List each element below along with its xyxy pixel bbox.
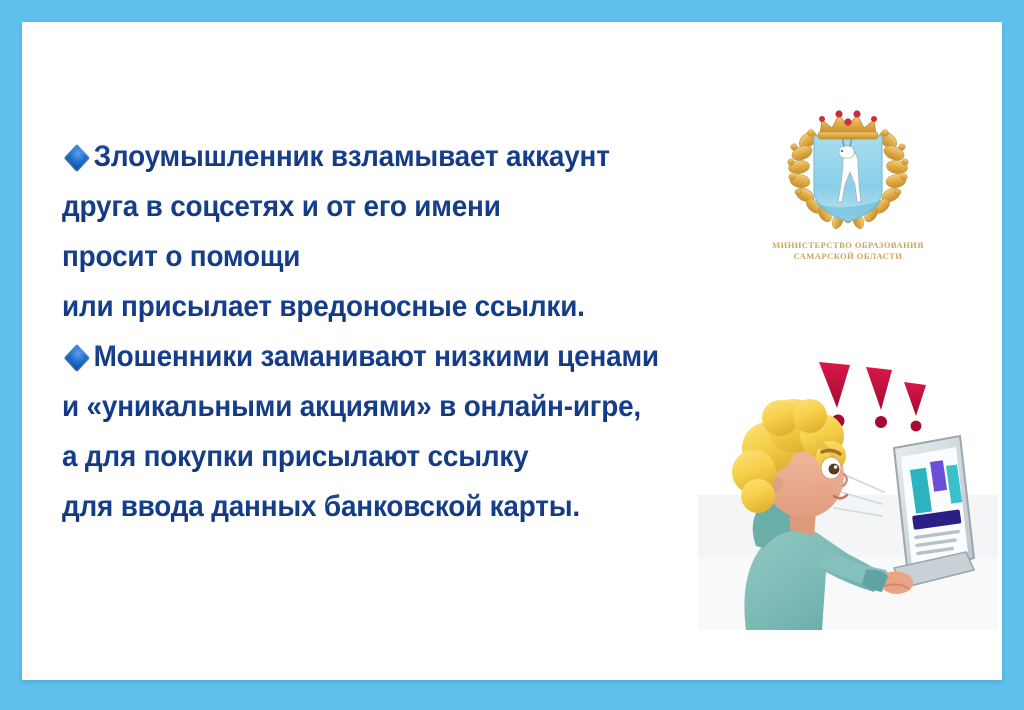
- boy-with-laptop-icon: [698, 340, 998, 630]
- samara-coat-of-arms-icon: [758, 106, 938, 236]
- message-line-text: Злоумышленник взламывает аккаунт: [94, 140, 610, 173]
- message-line: или присылает вредоносные ссылки.: [62, 282, 694, 332]
- message-line-text: Мошенники заманивают низкими ценами: [94, 340, 659, 373]
- ministry-emblem: Министерство образования Самарской облас…: [748, 106, 948, 262]
- message-line: а для покупки присылают ссылку: [62, 432, 694, 482]
- message-line: Мошенники заманивают низкими ценами: [62, 332, 694, 382]
- poster-card: Злоумышленник взламывает аккаунт друга в…: [22, 22, 1002, 680]
- diamond-bullet-icon: [64, 344, 90, 372]
- poster-root: Злоумышленник взламывает аккаунт друга в…: [0, 0, 1024, 710]
- message-line: и «уникальными акциями» в онлайн-игре,: [62, 382, 694, 432]
- emblem-caption: Министерство образования Самарской облас…: [748, 240, 948, 262]
- laptop: [894, 436, 974, 588]
- emblem-caption-line1: Министерство образования: [748, 240, 948, 251]
- message-line: для ввода данных банковской карты.: [62, 482, 694, 532]
- message-text-block: Злоумышленник взламывает аккаунт друга в…: [62, 132, 742, 532]
- boy-with-laptop-illustration: [698, 340, 998, 630]
- message-line: просит о помощи: [62, 232, 694, 282]
- message-line: Злоумышленник взламывает аккаунт: [62, 132, 694, 182]
- message-line: друга в соцсетях и от его имени: [62, 182, 694, 232]
- emblem-caption-line2: Самарской области: [748, 251, 948, 262]
- diamond-bullet-icon: [64, 144, 90, 172]
